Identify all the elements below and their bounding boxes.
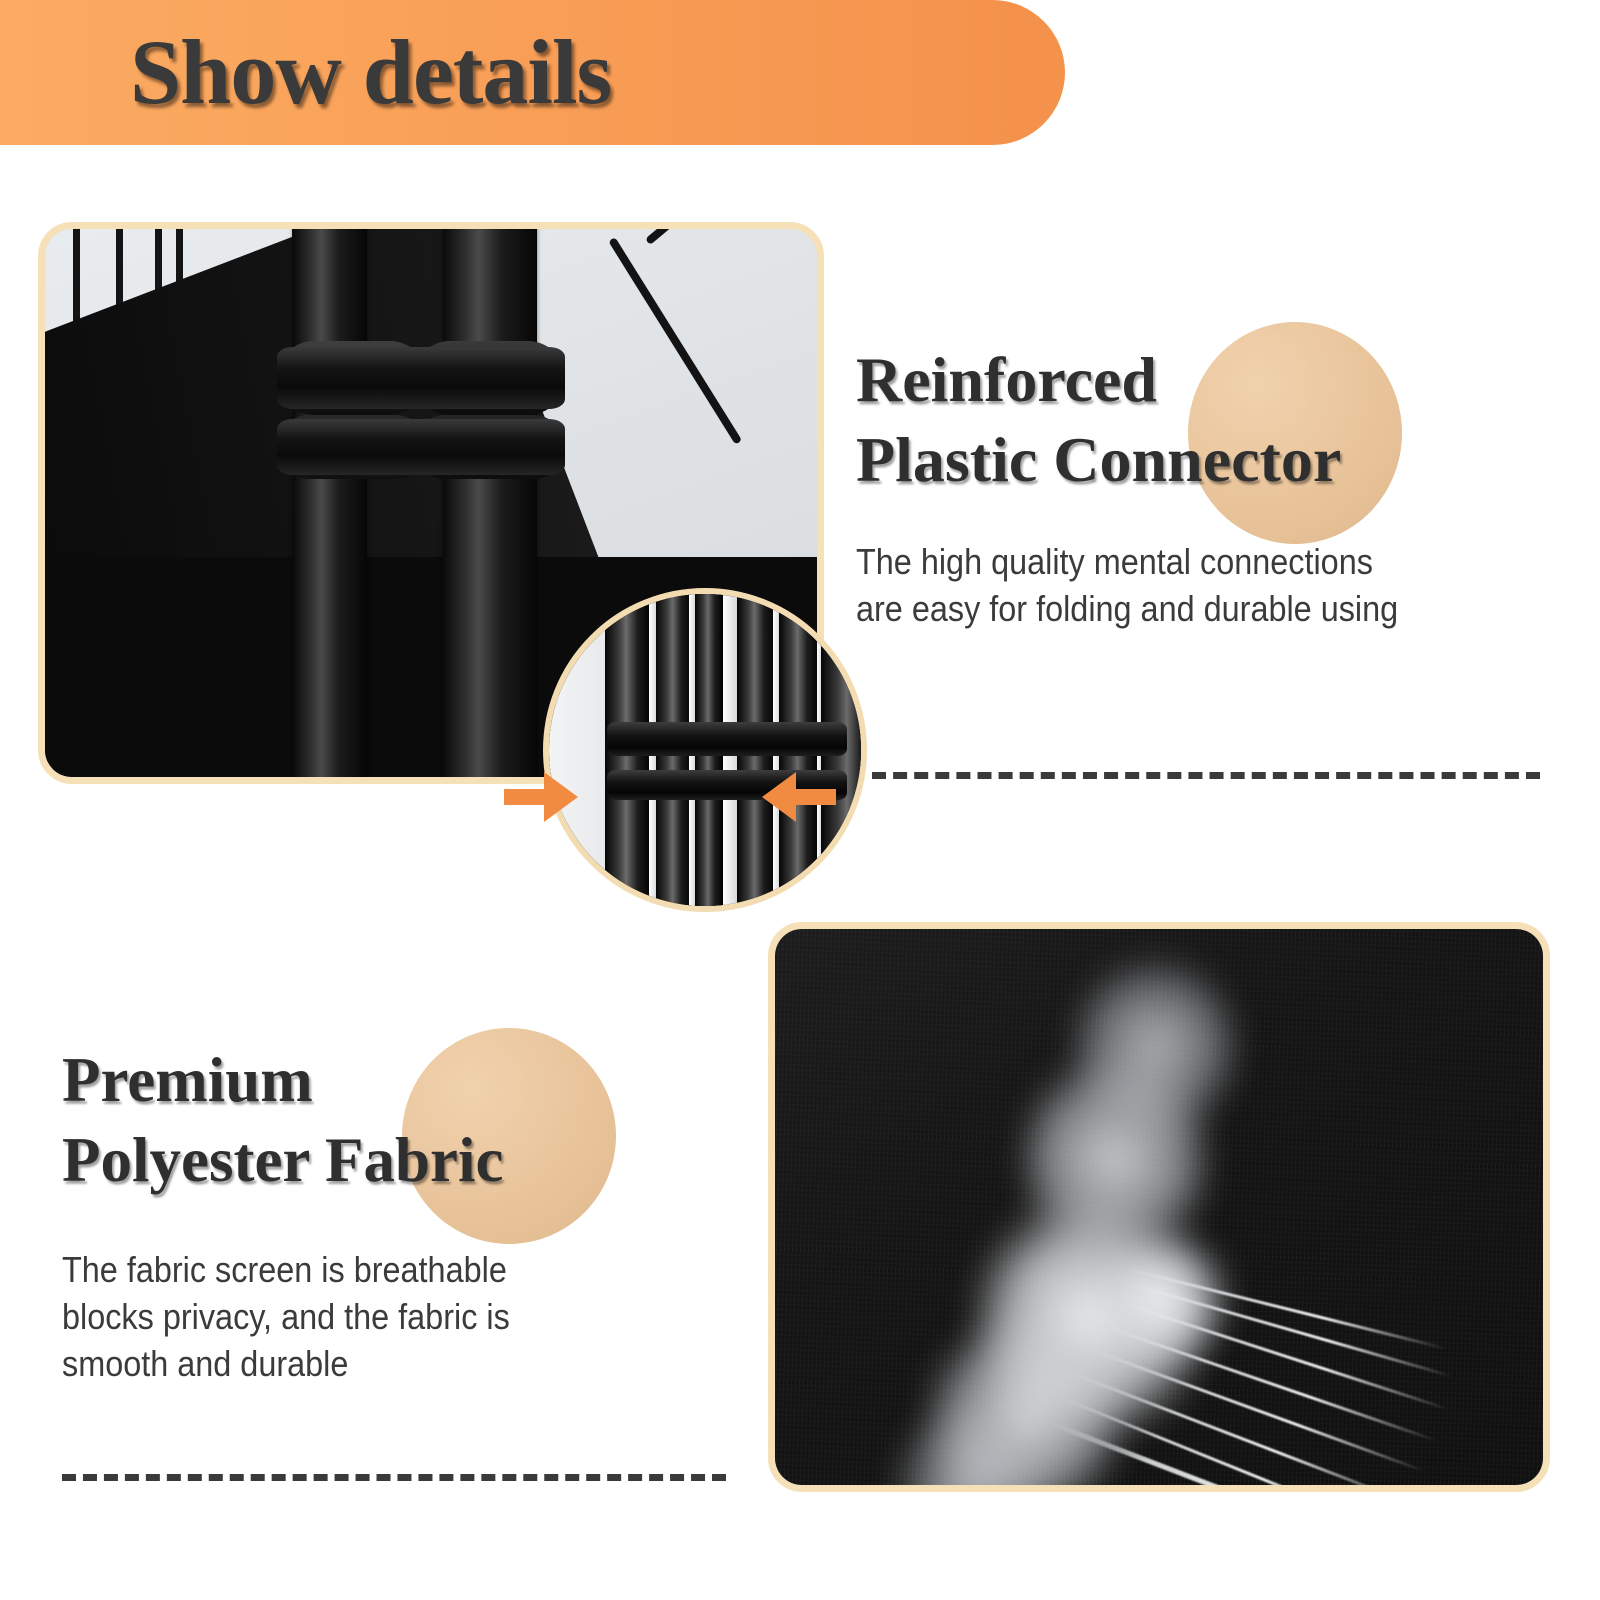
feature-body-line2: are easy for folding and durable using <box>856 585 1398 632</box>
arrow-right-icon <box>762 768 836 826</box>
feature-block-connector: Reinforced Plastic Connector The high qu… <box>856 340 1458 632</box>
feature-body-line3: smooth and durable <box>62 1340 510 1387</box>
page-title: Show details <box>130 16 611 128</box>
metal-tube-left <box>293 229 367 777</box>
fiber-fluff <box>1075 957 1235 1137</box>
magnifier-backdrop <box>549 594 605 906</box>
feature-heading-line1: Premium <box>62 1040 560 1120</box>
magnifier-photo <box>549 594 861 906</box>
divider-bottom <box>62 1474 726 1481</box>
arrow-left-icon <box>504 768 578 826</box>
connector-clip-band-bottom <box>277 419 565 475</box>
feature-body-line1: The fabric screen is breathable <box>62 1246 510 1293</box>
header-banner: Show details <box>0 0 1065 145</box>
feature-block-fabric: Premium Polyester Fabric The fabric scre… <box>62 1040 560 1387</box>
feature-heading-line1: Reinforced <box>856 340 1458 420</box>
feature-body-line2: blocks privacy, and the fabric is <box>62 1293 510 1340</box>
metal-tube-right <box>443 229 537 777</box>
fabric-photo-card <box>768 922 1550 1492</box>
magnifier-detail-circle <box>543 588 867 912</box>
magnified-clip-band-top <box>607 722 847 756</box>
fabric-photo <box>775 929 1543 1485</box>
connector-clip-band-top <box>277 347 565 409</box>
feature-body-line1: The high quality mental connections <box>856 538 1398 585</box>
feature-heading-line2: Plastic Connector <box>856 420 1458 500</box>
divider-top <box>872 772 1540 779</box>
feature-heading-line2: Polyester Fabric <box>62 1120 560 1200</box>
